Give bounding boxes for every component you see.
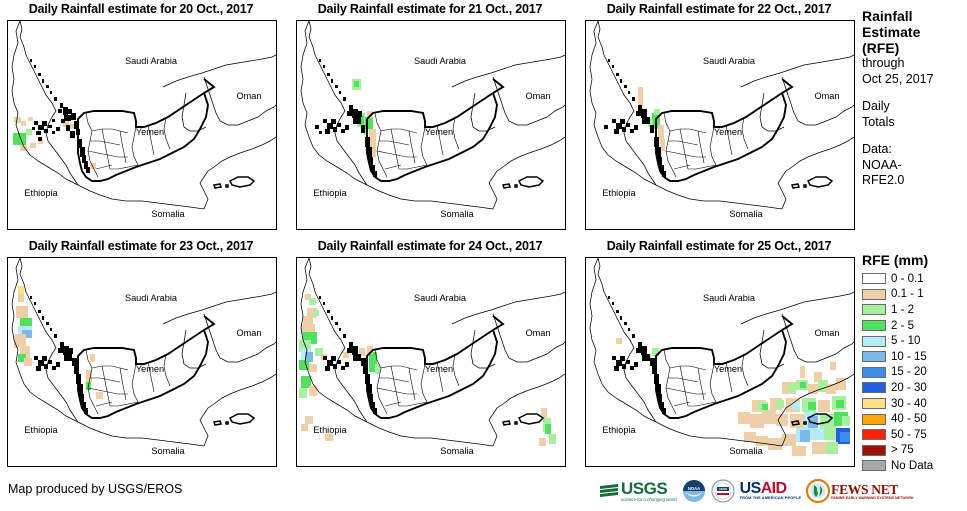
label-somalia: Somalia [440,209,474,219]
usaid-wordmark: USAID [740,481,801,496]
rfe-info-panel: Rainfall Estimate (RFE) through Oct 25, … [862,8,967,248]
rainfall-map-25-oct: Saudi Arabia Oman Yemen Ethiopia Somalia [586,258,854,466]
legend-label: 40 - 50 [891,413,927,425]
rfe-data-source-line1: NOAA- [862,158,967,174]
panel-title: Daily Rainfall estimate for 24 Oct., 201… [289,237,571,257]
rfe-totals-line1: Daily [862,99,967,115]
legend-item: 10 - 15 [862,349,967,365]
label-ethiopia: Ethiopia [24,188,58,198]
panel-title: Daily Rainfall estimate for 20 Oct., 201… [0,0,282,20]
legend-swatch [862,445,886,456]
fews-tagline: FAMINE EARLY WARNING SYSTEMS NETWORK [831,496,913,500]
legend-label: > 75 [891,444,914,456]
legend-swatch [862,351,886,362]
label-yemen: Yemen [425,364,453,374]
legend-label: No Data [891,460,933,472]
map-frame[interactable]: Saudi Arabia Oman Yemen Ethiopia Somalia [296,257,566,467]
legend-swatch [862,320,886,331]
rfe-title-line2: Estimate [862,24,967,40]
label-ethiopia: Ethiopia [313,425,347,435]
legend-swatch [862,336,886,347]
usgs-wave-icon [598,481,620,501]
legend-label: 0.1 - 1 [891,288,924,300]
label-oman: Oman [525,328,550,338]
legend-item: 2 - 5 [862,318,967,334]
panel-title: Daily Rainfall estimate for 23 Oct., 201… [0,237,282,257]
us-government-seal-icon: USAID [711,479,735,503]
noaa-seal-icon: NOAA [682,479,706,503]
socotra-island [792,177,832,188]
fews-wordmark: FEWS NET [831,483,913,496]
label-somalia: Somalia [151,209,185,219]
label-saudi-arabia: Saudi Arabia [703,293,756,303]
legend-item: 40 - 50 [862,411,967,427]
label-ethiopia: Ethiopia [24,425,58,435]
label-oman: Oman [236,91,261,101]
legend-swatch [862,460,886,471]
legend-swatch [862,304,886,315]
map-panel-21-oct[interactable]: Daily Rainfall estimate for 21 Oct., 201… [289,0,571,232]
label-somalia: Somalia [440,446,474,456]
label-oman: Oman [236,328,261,338]
fews-net-logo[interactable]: FEWS NET FAMINE EARLY WARNING SYSTEMS NE… [806,476,913,506]
map-panel-22-oct[interactable]: Daily Rainfall estimate for 22 Oct., 201… [578,0,860,232]
usaid-logo[interactable]: USAID FROM THE AMERICAN PEOPLE [740,476,801,506]
label-ethiopia: Ethiopia [602,425,636,435]
svg-text:NOAA: NOAA [687,486,699,491]
agency-logos: USGS science for a changing world NOAA U… [598,474,914,508]
panel-title: Daily Rainfall estimate for 21 Oct., 201… [289,0,571,20]
legend-swatch [862,398,886,409]
map-frame[interactable]: Saudi Arabia Oman Yemen Ethiopia Somalia [585,257,855,467]
legend-label: 30 - 40 [891,398,927,410]
socotra-island [214,414,254,425]
label-somalia: Somalia [729,446,763,456]
label-saudi-arabia: Saudi Arabia [414,56,467,66]
map-panel-grid: Daily Rainfall estimate for 20 Oct., 201… [0,0,860,470]
legend-swatch [862,414,886,425]
legend-item: 0 - 0.1 [862,271,967,287]
country-borders [301,258,565,446]
panel-title: Daily Rainfall estimate for 25 Oct., 201… [578,237,860,257]
rfe-through-date: Oct 25, 2017 [862,72,967,88]
svg-text:USAID: USAID [719,487,727,491]
legend-item: 15 - 20 [862,365,967,381]
rfe-through-label: through [862,56,967,72]
legend-label: 2 - 5 [891,320,914,332]
legend-item: No Data [862,458,967,474]
country-name-labels: Saudi Arabia Oman Yemen Ethiopia Somalia [313,293,550,456]
label-somalia: Somalia [729,209,763,219]
legend-label: 10 - 15 [891,351,927,363]
country-borders [301,21,565,209]
panel-title: Daily Rainfall estimate for 22 Oct., 201… [578,0,860,20]
legend-label: 50 - 75 [891,429,927,441]
label-yemen: Yemen [714,364,742,374]
label-yemen: Yemen [714,127,742,137]
country-name-labels: Saudi Arabia Oman Yemen Ethiopia Somalia [602,56,839,219]
legend-item: 5 - 10 [862,333,967,349]
label-somalia: Somalia [151,446,185,456]
rfe-title-line1: Rainfall [862,8,967,24]
usgs-wordmark: USGS [621,481,677,497]
legend-label: 15 - 20 [891,366,927,378]
country-name-labels: Saudi Arabia Oman Yemen Ethiopia Somalia [24,56,261,219]
rainfall-map-20-oct: Saudi Arabia Oman Yemen Ethiopia Somalia [8,21,276,229]
rfe-data-source-line2: RFE2.0 [862,173,967,189]
label-oman: Oman [525,91,550,101]
usaid-seal-logo[interactable]: USAID [711,476,735,506]
legend-label: 5 - 10 [891,335,920,347]
legend-item: 1 - 2 [862,302,967,318]
map-panel-20-oct[interactable]: Daily Rainfall estimate for 20 Oct., 201… [0,0,282,232]
rainfall-raster [14,286,103,399]
rainfall-map-21-oct: Saudi Arabia Oman Yemen Ethiopia Somalia [297,21,565,229]
label-saudi-arabia: Saudi Arabia [703,56,756,66]
label-saudi-arabia: Saudi Arabia [125,293,178,303]
legend-swatch [862,429,886,440]
map-panel-24-oct[interactable]: Daily Rainfall estimate for 24 Oct., 201… [289,237,571,469]
label-oman: Oman [814,91,839,101]
map-frame[interactable]: Saudi Arabia Oman Yemen Ethiopia Somalia [7,20,277,230]
rfe-data-label: Data: [862,142,967,158]
legend-item: 50 - 75 [862,427,967,443]
map-frame[interactable]: Saudi Arabia Oman Yemen Ethiopia Somalia [296,20,566,230]
map-frame[interactable]: Saudi Arabia Oman Yemen Ethiopia Somalia [7,257,277,467]
legend-item: 0.1 - 1 [862,287,967,303]
rfe-title-line3: (RFE) [862,40,967,56]
label-ethiopia: Ethiopia [313,188,347,198]
country-name-labels: Saudi Arabia Oman Yemen Ethiopia Somalia [24,293,261,456]
usgs-logo[interactable]: USGS science for a changing world [598,476,677,506]
rfe-legend: RFE (mm) 0 - 0.10.1 - 11 - 22 - 55 - 101… [862,252,967,474]
fews-globe-icon [806,479,830,503]
country-borders [12,21,276,209]
legend-swatch [862,289,886,300]
legend-label: 0 - 0.1 [891,273,924,285]
country-borders [12,258,276,446]
rainfall-map-24-oct: Saudi Arabia Oman Yemen Ethiopia Somalia [297,258,565,466]
legend-item: 30 - 40 [862,396,967,412]
noaa-logo[interactable]: NOAA [682,476,706,506]
label-yemen: Yemen [425,127,453,137]
rfe-totals-line2: Totals [862,115,967,131]
usgs-tagline: science for a changing world [621,497,677,502]
label-oman: Oman [814,328,839,338]
legend-swatch [862,273,886,284]
map-panel-23-oct[interactable]: Daily Rainfall estimate for 23 Oct., 201… [0,237,282,469]
label-yemen: Yemen [136,364,164,374]
map-credit: Map produced by USGS/EROS [8,482,182,496]
legend-label: 1 - 2 [891,304,914,316]
label-ethiopia: Ethiopia [602,188,636,198]
country-name-labels: Saudi Arabia Oman Yemen Ethiopia Somalia [313,56,550,219]
country-borders [590,21,854,209]
rainfall-map-23-oct: Saudi Arabia Oman Yemen Ethiopia Somalia [8,258,276,466]
legend-label: 20 - 30 [891,382,927,394]
label-saudi-arabia: Saudi Arabia [125,56,178,66]
legend-item: 20 - 30 [862,380,967,396]
rainfall-map-22-oct: Saudi Arabia Oman Yemen Ethiopia Somalia [586,21,854,229]
usaid-tagline: FROM THE AMERICAN PEOPLE [740,496,801,501]
legend-item: > 75 [862,443,967,459]
legend-swatch [862,382,886,393]
map-frame[interactable]: Saudi Arabia Oman Yemen Ethiopia Somalia [585,20,855,230]
socotra-island [214,177,254,188]
socotra-island [503,177,543,188]
legend-swatch [862,367,886,378]
legend-rows: 0 - 0.10.1 - 11 - 22 - 55 - 1010 - 1515 … [862,271,967,474]
map-panel-25-oct[interactable]: Daily Rainfall estimate for 25 Oct., 201… [578,237,860,469]
socotra-island [503,414,543,425]
label-yemen: Yemen [136,127,164,137]
label-saudi-arabia: Saudi Arabia [414,293,467,303]
legend-title: RFE (mm) [862,252,967,268]
